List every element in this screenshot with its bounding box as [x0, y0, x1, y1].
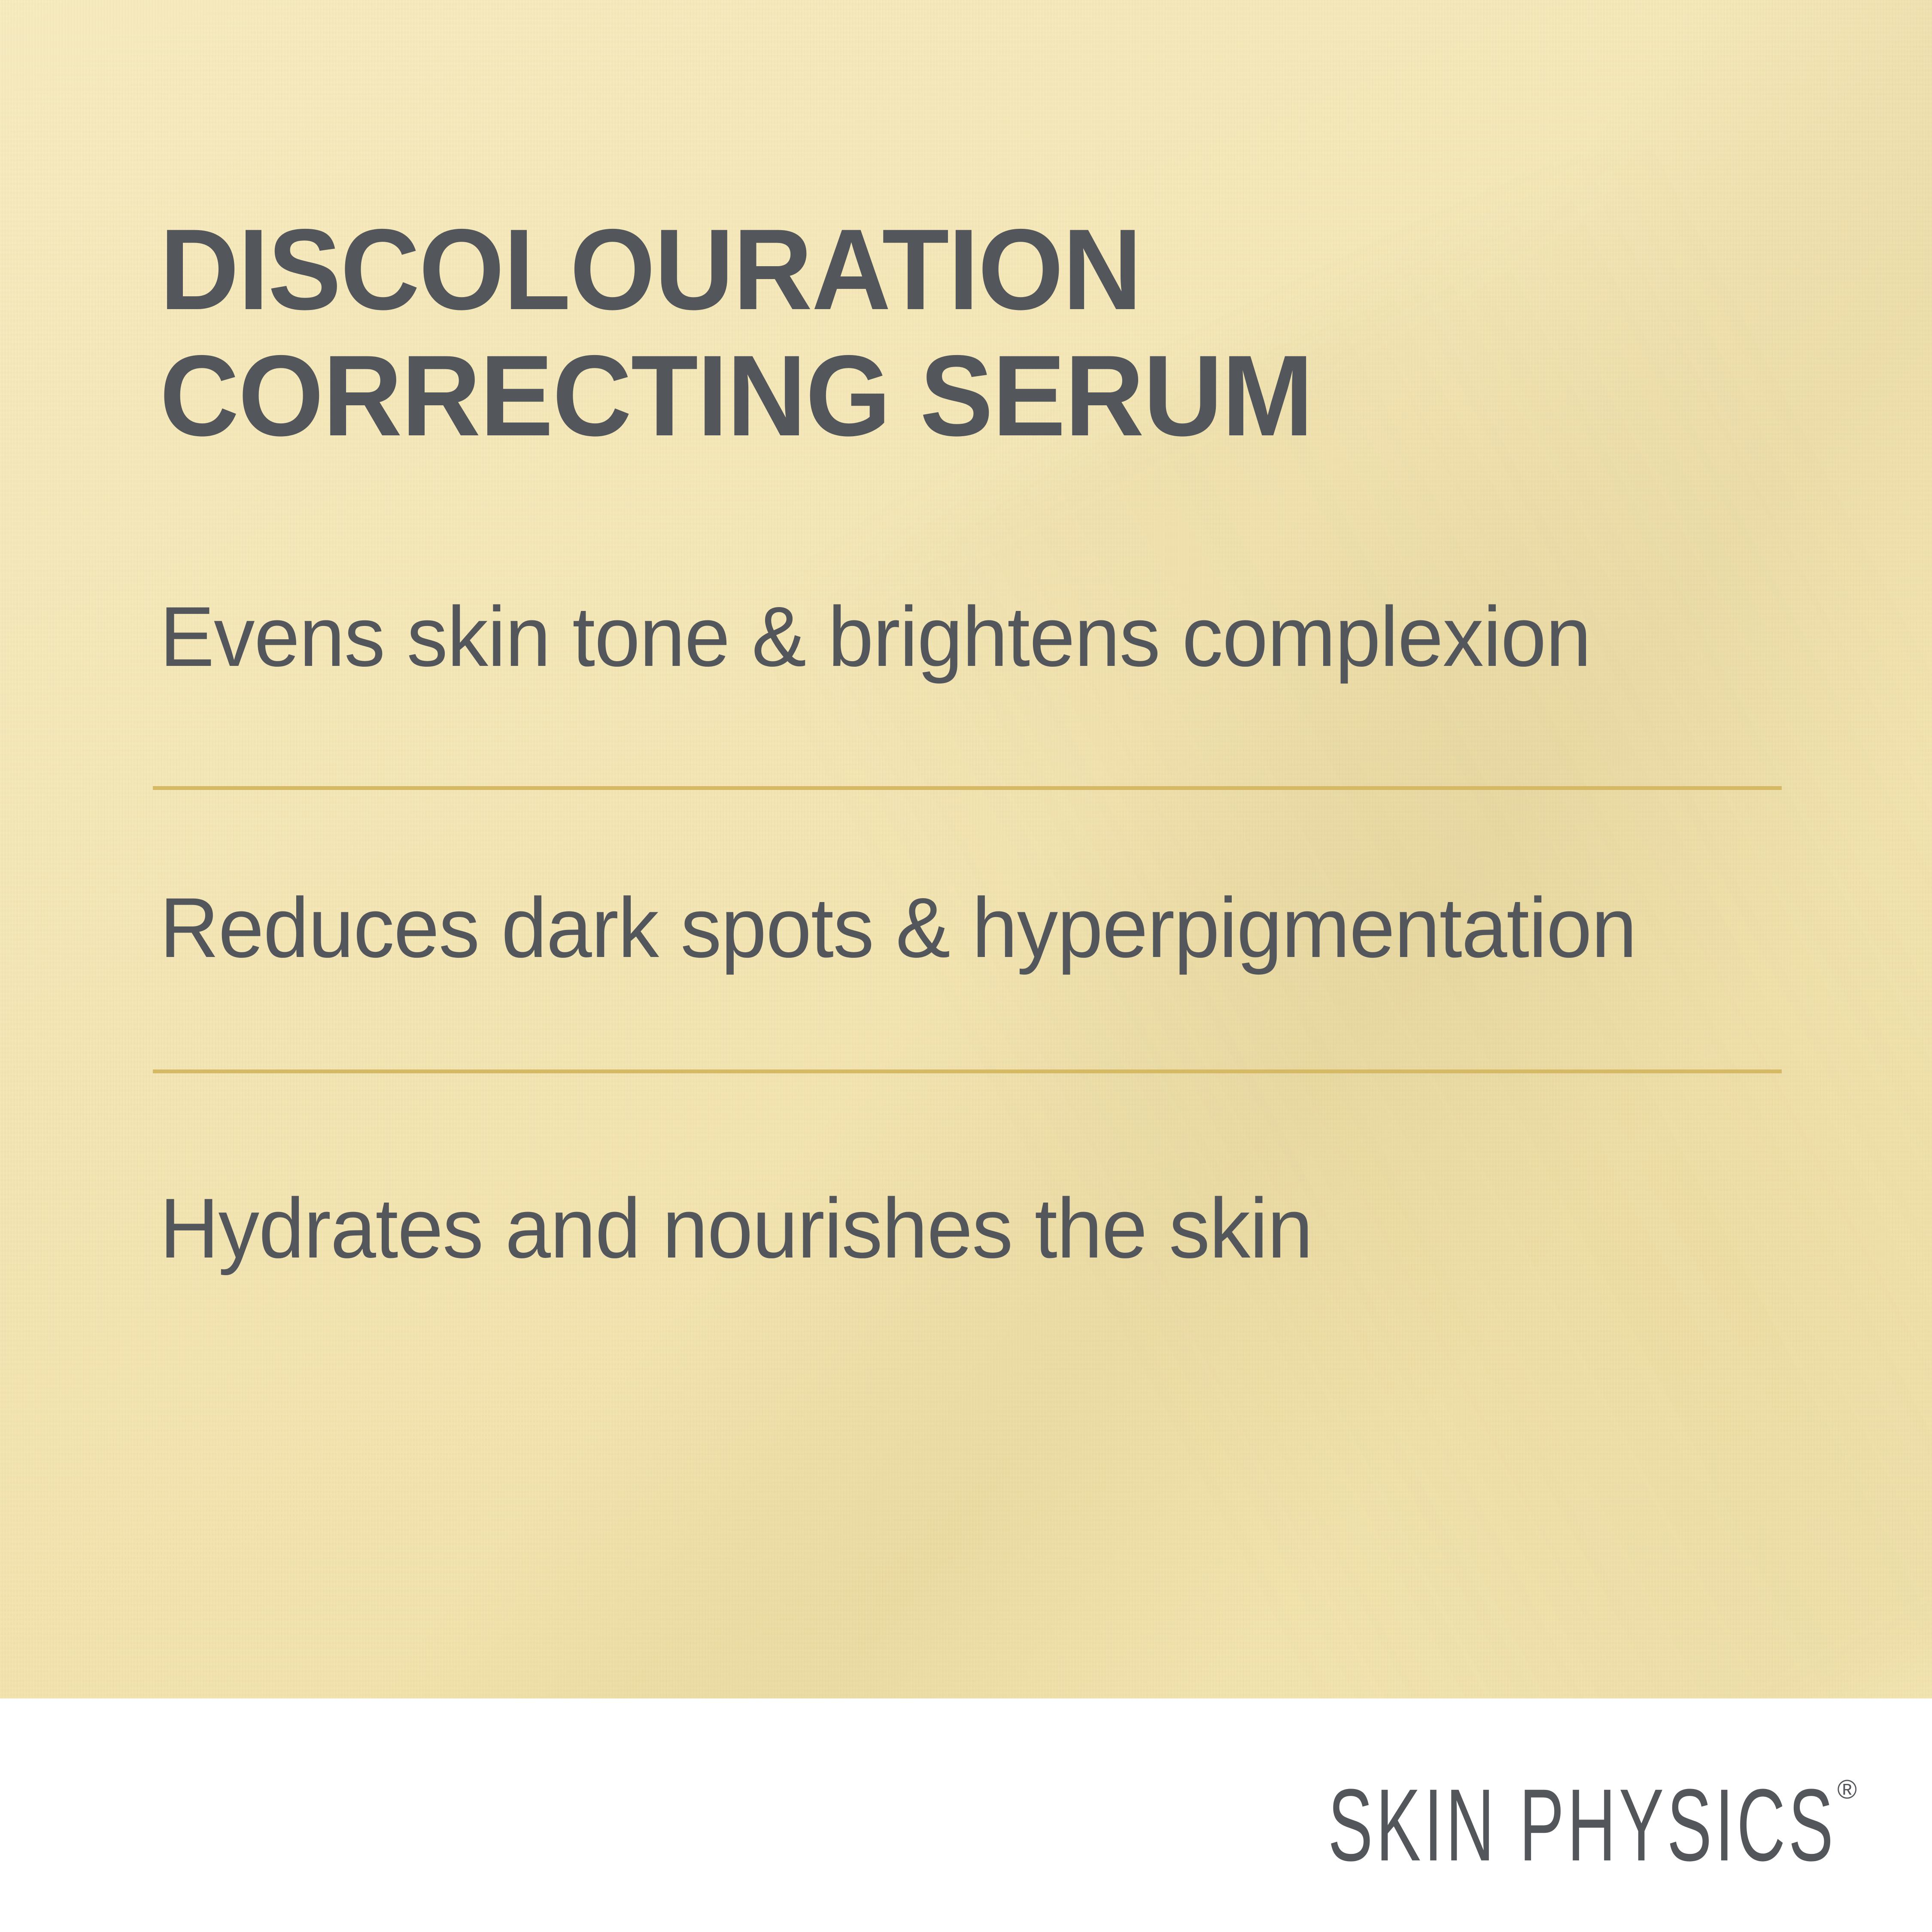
- hero-panel: DISCOLOURATION CORRECTING SERUM Evens sk…: [0, 0, 1932, 1698]
- brand-logo: SKIN PHYSICS ®: [1201, 1774, 1857, 1858]
- benefit-text: Evens skin tone & brightens complexion: [160, 594, 1776, 679]
- registered-trademark-icon: ®: [1837, 1777, 1857, 1803]
- benefit-text: Reduces dark spots & hyperpigmentation: [160, 885, 1776, 970]
- product-benefits-card: DISCOLOURATION CORRECTING SERUM Evens sk…: [0, 0, 1932, 1932]
- product-headline: DISCOLOURATION CORRECTING SERUM: [160, 206, 1595, 459]
- benefit-divider-rule: [153, 786, 1782, 790]
- brand-wordmark: SKIN PHYSICS: [1328, 1774, 1836, 1877]
- benefit-divider-rule: [153, 1069, 1782, 1073]
- brand-footer: SKIN PHYSICS ®: [0, 1698, 1932, 1932]
- benefit-text: Hydrates and nourishes the skin: [160, 1186, 1776, 1271]
